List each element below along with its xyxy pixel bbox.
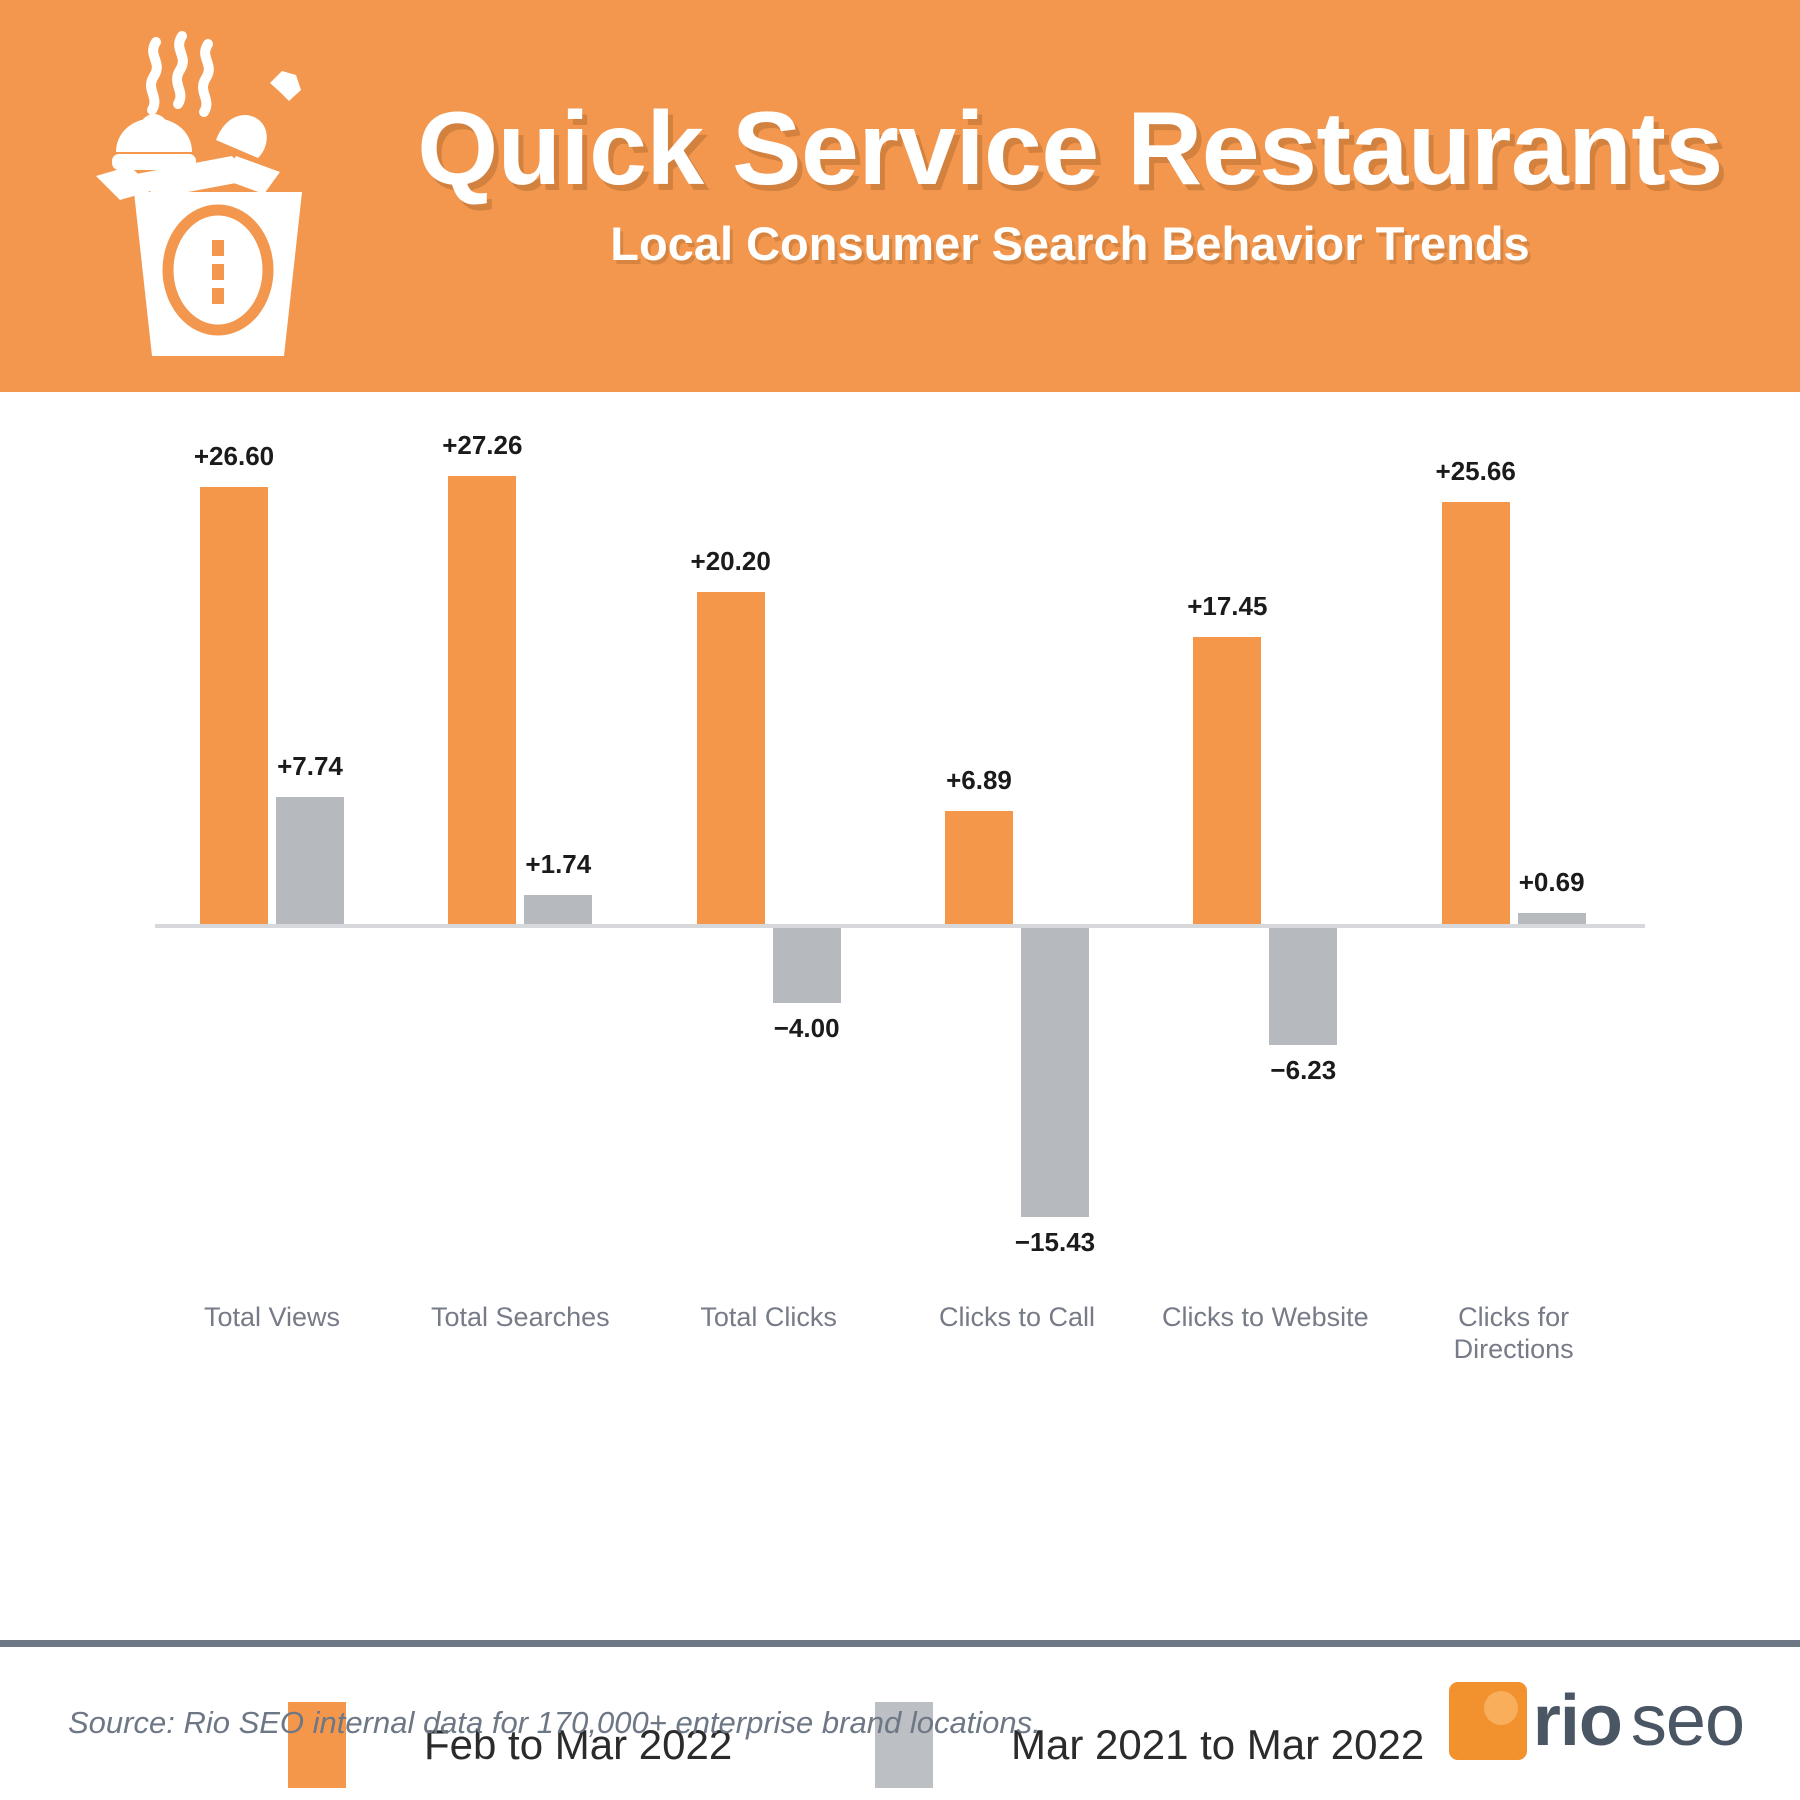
bar-value-label: −4.00	[717, 1013, 897, 1044]
bar-chart: +26.60+7.74Total Views+27.26+1.74Total S…	[0, 392, 1800, 1632]
category-label: Clicks for Directions	[1399, 1302, 1629, 1366]
bar-series1	[276, 797, 344, 924]
bar-value-label: +27.26	[392, 430, 572, 461]
bar-series0	[945, 811, 1013, 924]
bar-value-label: +25.66	[1386, 456, 1566, 487]
footer-divider	[0, 1640, 1800, 1647]
category-label: Clicks to Call	[902, 1302, 1132, 1334]
bar-series0	[697, 592, 765, 924]
bar-series1	[773, 928, 841, 1003]
infographic-page: Quick Service Restaurants Local Consumer…	[0, 0, 1800, 1800]
bar-value-label: +7.74	[220, 751, 400, 782]
brand-word-rio: rio	[1533, 1681, 1622, 1761]
bar-series1	[524, 895, 592, 924]
category-label: Total Searches	[405, 1302, 635, 1334]
category-label: Clicks to Website	[1150, 1302, 1380, 1334]
bar-series0	[1193, 637, 1261, 924]
bar-value-label: +17.45	[1137, 591, 1317, 622]
legend-label-1: Mar 2021 to Mar 2022	[1011, 1721, 1424, 1769]
bar-value-label: −15.43	[965, 1227, 1145, 1258]
brand-word-seo: seo	[1631, 1681, 1744, 1761]
rio-seo-dot-icon	[1484, 1691, 1518, 1725]
rio-seo-logo[interactable]: rioseo	[1449, 1682, 1744, 1760]
bar-series0	[1442, 502, 1510, 924]
header-banner: Quick Service Restaurants Local Consumer…	[0, 0, 1800, 392]
zero-axis-line	[155, 924, 1645, 928]
category-label: Total Clicks	[654, 1302, 884, 1334]
rio-seo-mark-icon	[1449, 1682, 1527, 1760]
bar-series0	[200, 487, 268, 924]
bar-series1	[1518, 913, 1586, 924]
takeout-food-container-icon	[96, 24, 336, 364]
category-label: Total Views	[157, 1302, 387, 1334]
source-note: Source: Rio SEO internal data for 170,00…	[68, 1705, 1041, 1741]
header-text-block: Quick Service Restaurants Local Consumer…	[400, 96, 1740, 271]
bar-value-label: +1.74	[468, 849, 648, 880]
bar-value-label: +0.69	[1462, 867, 1642, 898]
page-subtitle: Local Consumer Search Behavior Trends	[400, 216, 1740, 271]
bar-series1	[1021, 928, 1089, 1217]
rio-seo-wordmark: rioseo	[1533, 1682, 1744, 1760]
bar-series1	[1269, 928, 1337, 1045]
page-title: Quick Service Restaurants	[400, 96, 1740, 202]
bar-value-label: +26.60	[144, 441, 324, 472]
bar-value-label: −6.23	[1213, 1055, 1393, 1086]
chart-plot-area: +26.60+7.74Total Views+27.26+1.74Total S…	[155, 432, 1645, 1232]
bar-value-label: +20.20	[641, 546, 821, 577]
bar-value-label: +6.89	[889, 765, 1069, 796]
